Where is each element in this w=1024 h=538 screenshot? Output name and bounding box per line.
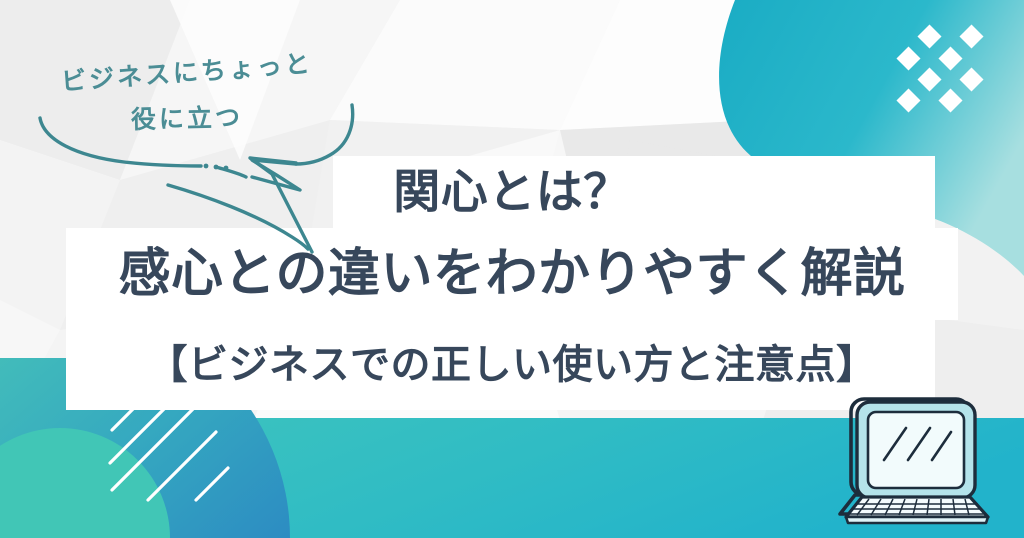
title-line-3: 【ビジネスでの正しい使い方と注意点】 [0, 320, 1024, 410]
title-line-1: 関心とは？ [0, 156, 1024, 228]
blog-eyecatch-banner: ビジネスにちょっと 役に立つ 関心とは？ 感心との違いをわかりやすく解説 【ビジ… [0, 0, 1024, 538]
catchcopy-line-2: 役に立つ [22, 95, 353, 144]
title-line-2: 感心との違いをわかりやすく解説 [0, 228, 1024, 320]
page-title: 関心とは？ 感心との違いをわかりやすく解説 【ビジネスでの正しい使い方と注意点】 [0, 156, 1024, 410]
catchcopy-block: ビジネスにちょっと 役に立つ [22, 52, 352, 140]
